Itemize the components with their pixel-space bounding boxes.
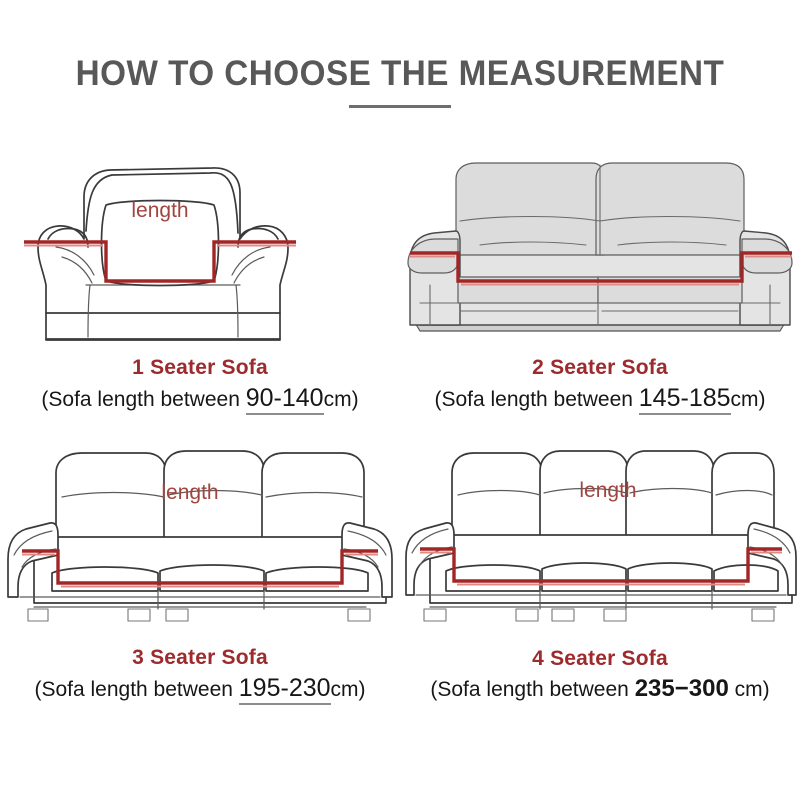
sofa-size-caption-4-seater: (Sofa length between 235−300 cm) <box>400 672 800 707</box>
sofa-illustration-4-seater: length <box>400 425 800 640</box>
sofa-card-2-seater: 2 Seater Sofa (Sofa length between 145-1… <box>400 135 800 425</box>
page-title: HOW TO CHOOSE THE MEASUREMENT <box>20 52 780 96</box>
sofa-length-unit-1-seater: cm) <box>324 388 359 411</box>
sofa-length-unit-2-seater: cm) <box>731 388 766 411</box>
sofa-card-1-seater: length 1 Seater Sofa (Sofa length betwee… <box>0 135 400 425</box>
sofa-heading-3-seater: 3 Seater Sofa <box>0 645 400 671</box>
sofa-caption-3-seater: 3 Seater Sofa (Sofa length between 195-2… <box>0 645 400 707</box>
sofa-caption-2-seater: 2 Seater Sofa (Sofa length between 145-1… <box>400 355 800 417</box>
sofa-length-range-2-seater: 145-185 <box>639 384 731 415</box>
length-label-3-seater: length <box>161 481 218 504</box>
sofa-length-range-3-seater: 195-230 <box>239 674 331 705</box>
caption-prefix: (Sofa length between <box>41 388 245 411</box>
sofa-card-4-seater: length 4 Seater Sofa (Sofa length betwee… <box>400 425 800 715</box>
sofa-size-grid: length 1 Seater Sofa (Sofa length betwee… <box>0 135 800 735</box>
sofa-size-caption-3-seater: (Sofa length between 195-230cm) <box>0 671 400 707</box>
length-label-4-seater: length <box>579 479 636 502</box>
sofa-size-caption-1-seater: (Sofa length between 90-140cm) <box>0 381 400 417</box>
sofa-length-range-1-seater: 90-140 <box>246 384 324 415</box>
sofa-heading-4-seater: 4 Seater Sofa <box>400 646 800 672</box>
caption-prefix: (Sofa length between <box>430 678 634 701</box>
title-divider <box>349 105 451 108</box>
length-label-1-seater: length <box>131 199 188 222</box>
sofa-illustration-3-seater: length <box>0 425 400 640</box>
sofa-heading-1-seater: 1 Seater Sofa <box>0 355 400 381</box>
caption-prefix: (Sofa length between <box>434 388 638 411</box>
sofa-heading-2-seater: 2 Seater Sofa <box>400 355 800 381</box>
sofa-length-unit-4-seater: cm) <box>729 678 770 701</box>
sofa-length-unit-3-seater: cm) <box>331 678 366 701</box>
sofa-illustration-1-seater: length <box>0 135 400 350</box>
sofa-caption-1-seater: 1 Seater Sofa (Sofa length between 90-14… <box>0 355 400 417</box>
sofa-length-range-4-seater: 235−300 <box>635 675 729 703</box>
sofa-card-3-seater: length 3 Seater Sofa (Sofa length betwee… <box>0 425 400 715</box>
sofa-size-caption-2-seater: (Sofa length between 145-185cm) <box>400 381 800 417</box>
page-header: HOW TO CHOOSE THE MEASUREMENT <box>0 52 800 108</box>
sofa-illustration-2-seater <box>400 135 800 350</box>
sofa-caption-4-seater: 4 Seater Sofa (Sofa length between 235−3… <box>400 646 800 707</box>
caption-prefix: (Sofa length between <box>34 678 238 701</box>
